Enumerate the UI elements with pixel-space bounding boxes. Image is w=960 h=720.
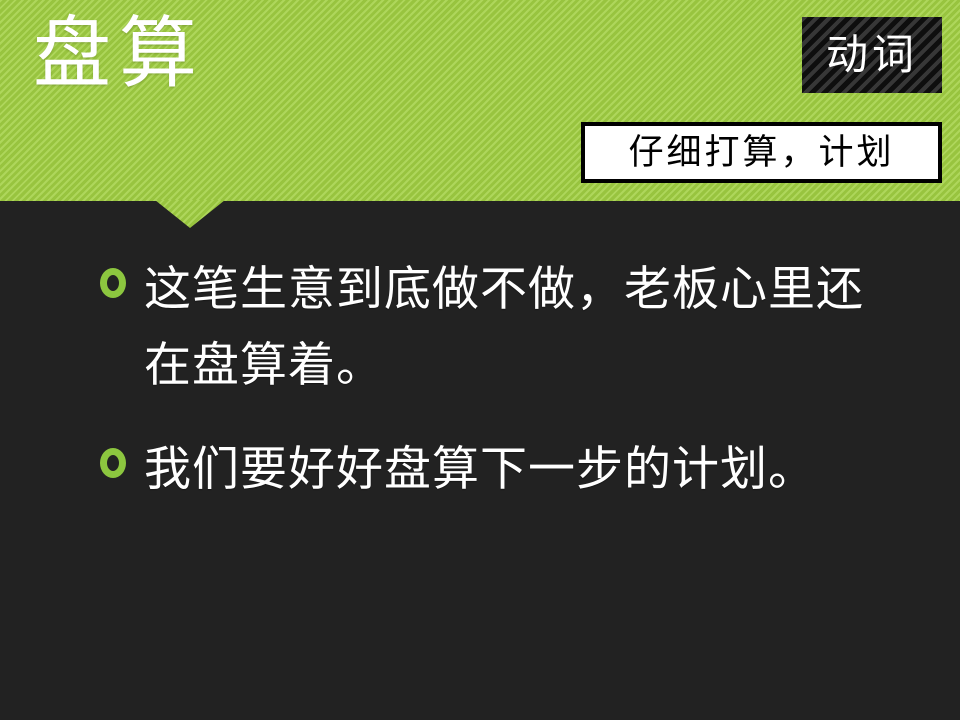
ring-bullet-icon [100, 268, 126, 298]
page-title: 盘算 [33, 6, 205, 102]
definition-text: 仔细打算，计划 [628, 133, 894, 173]
part-of-speech-badge: 动词 [802, 17, 942, 93]
definition-box: 仔细打算，计划 [581, 122, 942, 183]
part-of-speech-label: 动词 [802, 17, 942, 93]
vocabulary-slide: 盘算 动词 仔细打算，计划 这笔生意到底做不做，老板心里还在盘算着。 我们要好好… [0, 0, 960, 720]
example-sentence-text: 我们要好好盘算下一步的计划。 [144, 442, 816, 497]
example-sentence-list: 这笔生意到底做不做，老板心里还在盘算着。 我们要好好盘算下一步的计划。 [96, 252, 896, 536]
list-item: 这笔生意到底做不做，老板心里还在盘算着。 [96, 252, 896, 404]
ring-bullet-icon [100, 448, 126, 478]
list-item: 我们要好好盘算下一步的计划。 [96, 432, 896, 508]
example-sentence-text: 这笔生意到底做不做，老板心里还在盘算着。 [144, 262, 864, 393]
